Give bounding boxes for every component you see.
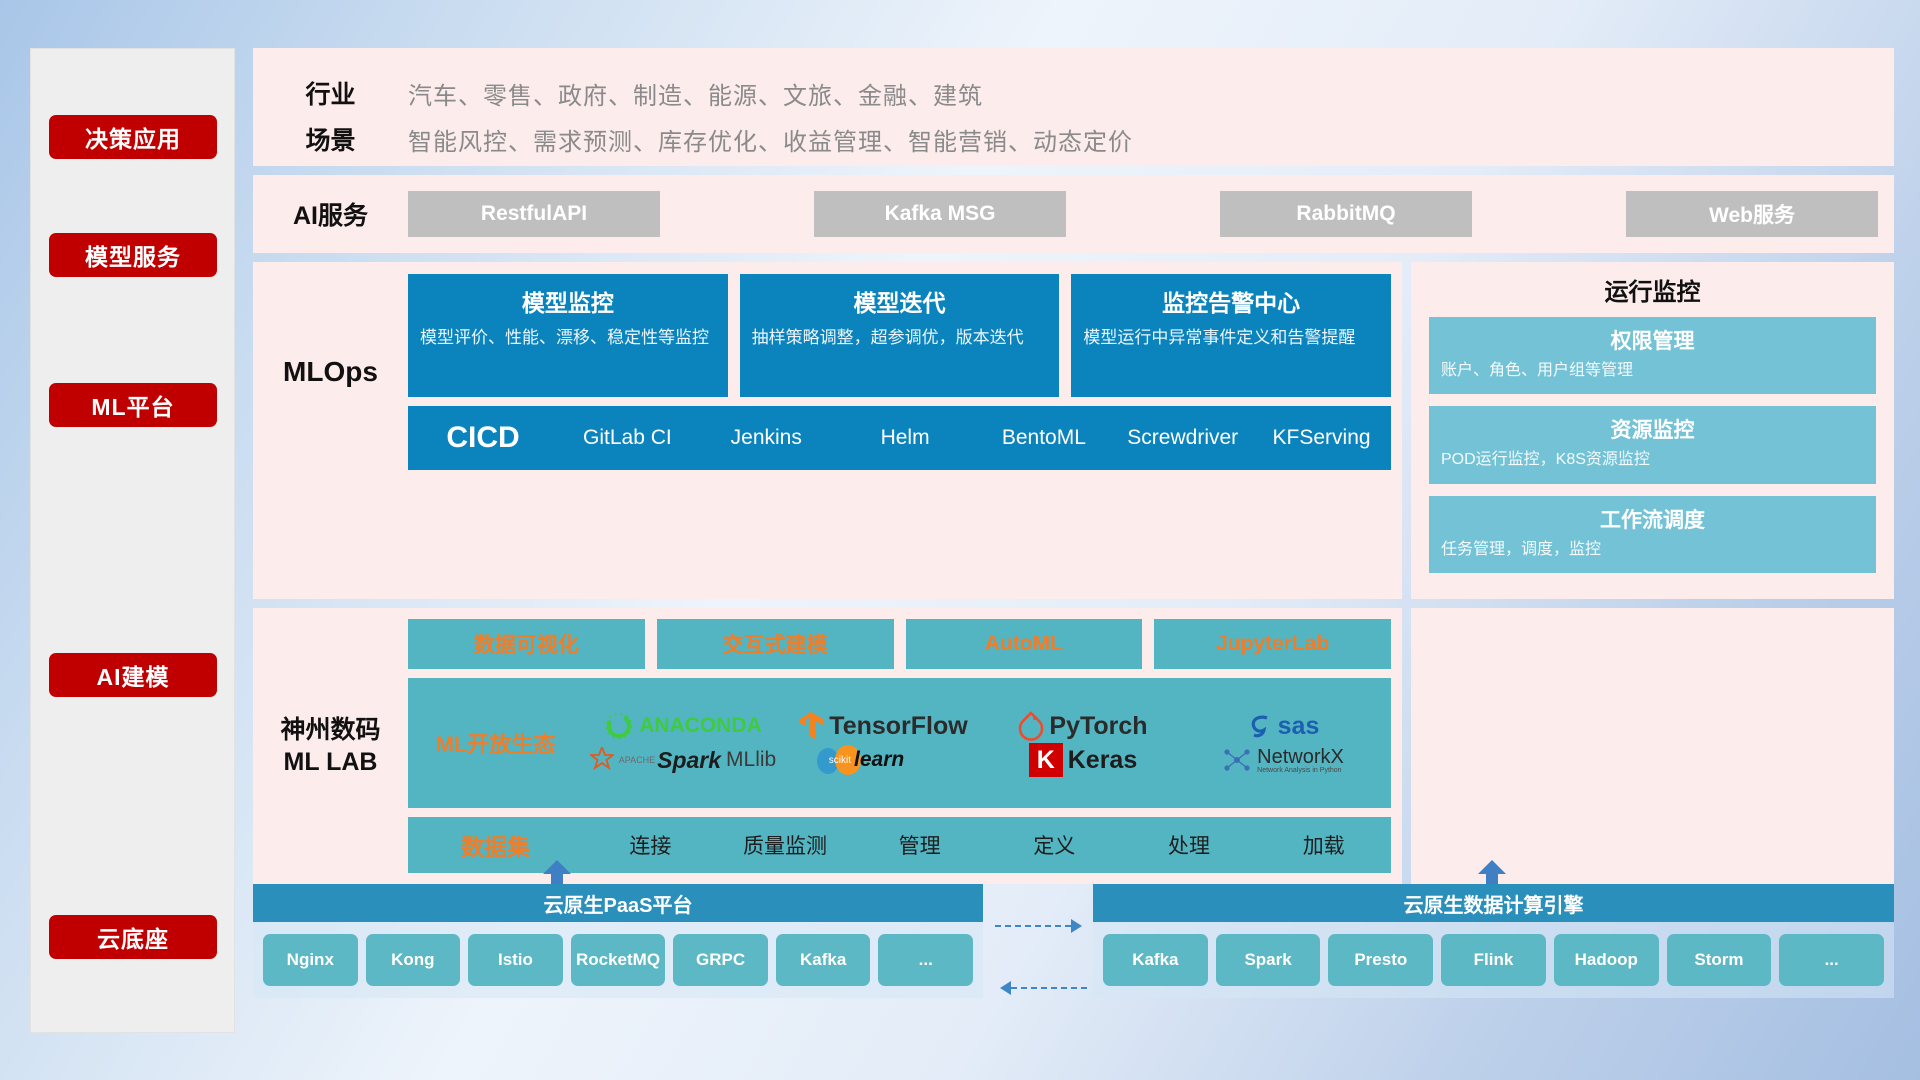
scikit-text: scikit bbox=[829, 755, 851, 766]
spark-wordmark: Spark bbox=[657, 747, 721, 774]
connector-arrow-left bbox=[1011, 987, 1087, 989]
paas-chip-more[interactable]: ... bbox=[878, 934, 973, 986]
ai-service-items: RestfulAPI Kafka MSG RabbitMQ Web服务 bbox=[408, 191, 1894, 237]
industry-row: 行业 汽车、零售、政府、制造、能源、文旅、金融、建筑 bbox=[253, 70, 1894, 116]
run-monitor-panel-lower bbox=[1411, 608, 1894, 884]
mlops-panel: MLOps 模型监控 模型评价、性能、漂移、稳定性等监控 模型迭代 抽样策略调整… bbox=[253, 262, 1402, 599]
cicd-item-screwdriver[interactable]: Screwdriver bbox=[1113, 426, 1252, 449]
dataset-items: 连接 质量监测 管理 定义 处理 加载 bbox=[583, 830, 1391, 860]
paas-chip-rocketmq[interactable]: RocketMQ bbox=[571, 934, 666, 986]
scenario-key: 场景 bbox=[253, 121, 408, 157]
paas-chip-istio[interactable]: Istio bbox=[468, 934, 563, 986]
networkx-mark-icon bbox=[1222, 746, 1252, 774]
spark-apache-text: APACHE bbox=[619, 755, 655, 765]
modeling-tools-row: 数据可视化 交互式建模 AutoML JupyterLab bbox=[408, 619, 1391, 669]
engine-chips: Kafka Spark Presto Flink Hadoop Storm ..… bbox=[1093, 922, 1894, 998]
ml-lab-panel: 神州数码 ML LAB 数据可视化 交互式建模 AutoML JupyterLa… bbox=[253, 608, 1402, 884]
card-title: 资源监控 bbox=[1441, 414, 1864, 444]
card-title: 监控告警中心 bbox=[1083, 284, 1379, 318]
learn-wordmark: learn bbox=[854, 748, 904, 772]
networkx-subtitle: Network Analysis in Python bbox=[1257, 767, 1344, 774]
ml-lab-label: 神州数码 ML LAB bbox=[253, 619, 408, 873]
tool-chip-interactive-modeling[interactable]: 交互式建模 bbox=[657, 619, 894, 669]
engine-chip-presto[interactable]: Presto bbox=[1328, 934, 1433, 986]
monitor-card-permission[interactable]: 权限管理 账户、角色、用户组等管理 bbox=[1429, 317, 1876, 394]
cicd-item-helm[interactable]: Helm bbox=[836, 426, 975, 449]
layer-chip-ml-platform[interactable]: ML平台 bbox=[49, 383, 217, 427]
pytorch-wordmark: PyTorch bbox=[1049, 712, 1147, 741]
paas-chip-grpc[interactable]: GRPC bbox=[673, 934, 768, 986]
cicd-item-gitlab-ci[interactable]: GitLab CI bbox=[558, 426, 697, 449]
industry-value: 汽车、零售、政府、制造、能源、文旅、金融、建筑 bbox=[408, 76, 983, 111]
spark-mllib-logo: APACHE Spark MLlib bbox=[590, 747, 776, 774]
dataset-item-define[interactable]: 定义 bbox=[987, 830, 1122, 860]
scikit-learn-logo: scikit learn bbox=[812, 743, 954, 777]
tool-chip-automl[interactable]: AutoML bbox=[906, 619, 1143, 669]
mlops-label: MLOps bbox=[253, 274, 408, 470]
anaconda-mark-icon bbox=[604, 711, 634, 741]
engine-chip-spark[interactable]: Spark bbox=[1216, 934, 1321, 986]
run-monitor-title: 运行监控 bbox=[1429, 272, 1876, 307]
card-title: 工作流调度 bbox=[1441, 504, 1864, 534]
sas-logo: sas bbox=[1247, 712, 1320, 741]
engine-header: 云原生数据计算引擎 bbox=[1093, 884, 1894, 922]
paas-platform-panel: 云原生PaaS平台 Nginx Kong Istio RocketMQ GRPC… bbox=[253, 884, 983, 998]
service-chip-kafka-msg[interactable]: Kafka MSG bbox=[814, 191, 1066, 237]
tensorflow-logo: TensorFlow bbox=[798, 711, 967, 741]
anaconda-logo: ANACONDA bbox=[604, 711, 762, 741]
tool-chip-jupyterlab[interactable]: JupyterLab bbox=[1154, 619, 1391, 669]
dataset-item-quality-monitor[interactable]: 质量监测 bbox=[718, 830, 853, 860]
card-desc: POD运行监控，K8S资源监控 bbox=[1441, 449, 1864, 471]
ml-ecosystem-label: ML开放生态 bbox=[408, 727, 583, 759]
paas-chips: Nginx Kong Istio RocketMQ GRPC Kafka ... bbox=[253, 922, 983, 998]
engine-chip-hadoop[interactable]: Hadoop bbox=[1554, 934, 1659, 986]
cicd-item-kfserving[interactable]: KFServing bbox=[1252, 426, 1391, 449]
anaconda-wordmark: ANACONDA bbox=[639, 714, 762, 738]
data-compute-engine-panel: 云原生数据计算引擎 Kafka Spark Presto Flink Hadoo… bbox=[1093, 884, 1894, 998]
layer-chip-ai-modeling[interactable]: AI建模 bbox=[49, 653, 217, 697]
cloud-base-section: 云原生PaaS平台 Nginx Kong Istio RocketMQ GRPC… bbox=[253, 862, 1894, 1034]
engine-chip-more[interactable]: ... bbox=[1779, 934, 1884, 986]
engine-chip-flink[interactable]: Flink bbox=[1441, 934, 1546, 986]
card-desc: 账户、角色、用户组等管理 bbox=[1441, 360, 1864, 382]
architecture-main-column: 行业 汽车、零售、政府、制造、能源、文旅、金融、建筑 场景 智能风控、需求预测、… bbox=[253, 48, 1894, 884]
paas-chip-nginx[interactable]: Nginx bbox=[263, 934, 358, 986]
mlops-card-model-iteration[interactable]: 模型迭代 抽样策略调整，超参调优，版本迭代 bbox=[740, 274, 1060, 397]
dataset-item-process[interactable]: 处理 bbox=[1122, 830, 1257, 860]
networkx-wordmark: NetworkX bbox=[1257, 747, 1344, 767]
layer-rail: 决策应用 模型服务 ML平台 AI建模 云底座 bbox=[30, 48, 235, 1033]
connector-arrowhead-left bbox=[1000, 981, 1011, 995]
engine-chip-kafka[interactable]: Kafka bbox=[1103, 934, 1208, 986]
tensorflow-mark-icon bbox=[798, 711, 824, 741]
sas-mark-icon bbox=[1247, 712, 1273, 740]
sas-wordmark: sas bbox=[1278, 712, 1320, 741]
mlops-card-model-monitoring[interactable]: 模型监控 模型评价、性能、漂移、稳定性等监控 bbox=[408, 274, 728, 397]
keras-wordmark: Keras bbox=[1068, 746, 1138, 775]
card-desc: 模型运行中异常事件定义和告警提醒 bbox=[1083, 326, 1379, 351]
layer-chip-decision-app[interactable]: 决策应用 bbox=[49, 115, 217, 159]
industry-scenario-band: 行业 汽车、零售、政府、制造、能源、文旅、金融、建筑 场景 智能风控、需求预测、… bbox=[253, 48, 1894, 166]
paas-header: 云原生PaaS平台 bbox=[253, 884, 983, 922]
networkx-logo: NetworkX Network Analysis in Python bbox=[1222, 746, 1344, 774]
run-monitor-panel: 运行监控 权限管理 账户、角色、用户组等管理 资源监控 POD运行监控，K8S资… bbox=[1411, 262, 1894, 599]
card-title: 模型迭代 bbox=[752, 284, 1048, 318]
card-title: 权限管理 bbox=[1441, 325, 1864, 355]
ml-platform-band: MLOps 模型监控 模型评价、性能、漂移、稳定性等监控 模型迭代 抽样策略调整… bbox=[253, 262, 1894, 599]
card-title: 模型监控 bbox=[420, 284, 716, 318]
cicd-title: CICD bbox=[408, 421, 558, 455]
pytorch-logo: PyTorch bbox=[1018, 711, 1147, 741]
tensorflow-wordmark: TensorFlow bbox=[829, 712, 967, 741]
monitor-card-workflow[interactable]: 工作流调度 任务管理，调度，监控 bbox=[1429, 496, 1876, 573]
cicd-strip: CICD GitLab CI Jenkins Helm BentoML Scre… bbox=[408, 406, 1391, 470]
scenario-row: 场景 智能风控、需求预测、库存优化、收益管理、智能营销、动态定价 bbox=[253, 116, 1894, 162]
layer-chip-cloud-base[interactable]: 云底座 bbox=[49, 915, 217, 959]
mllib-wordmark: MLlib bbox=[726, 748, 776, 772]
mlops-card-alert-center[interactable]: 监控告警中心 模型运行中异常事件定义和告警提醒 bbox=[1071, 274, 1391, 397]
dataset-item-manage[interactable]: 管理 bbox=[852, 830, 987, 860]
service-chip-restfulapi[interactable]: RestfulAPI bbox=[408, 191, 660, 237]
ml-ecosystem-logos: ANACONDA TensorFlow bbox=[583, 709, 1391, 777]
ai-service-band: AI服务 RestfulAPI Kafka MSG RabbitMQ Web服务 bbox=[253, 175, 1894, 253]
engine-chip-storm[interactable]: Storm bbox=[1667, 934, 1772, 986]
industry-key: 行业 bbox=[253, 75, 408, 111]
keras-mark-icon: K bbox=[1029, 743, 1063, 777]
ai-service-label: AI服务 bbox=[253, 196, 408, 232]
ml-lab-label-line2: ML LAB bbox=[284, 748, 378, 776]
cicd-item-jenkins[interactable]: Jenkins bbox=[697, 426, 836, 449]
paas-chip-kong[interactable]: Kong bbox=[366, 934, 461, 986]
scenario-value: 智能风控、需求预测、库存优化、收益管理、智能营销、动态定价 bbox=[408, 122, 1133, 157]
pytorch-mark-icon bbox=[1018, 711, 1044, 741]
dataset-item-load[interactable]: 加载 bbox=[1256, 830, 1391, 860]
spark-mark-icon bbox=[590, 747, 614, 773]
keras-logo: K Keras bbox=[1029, 743, 1138, 777]
ml-lab-label-line1: 神州数码 bbox=[280, 716, 380, 744]
service-chip-web[interactable]: Web服务 bbox=[1626, 191, 1878, 237]
card-desc: 任务管理，调度，监控 bbox=[1441, 539, 1864, 561]
connector-arrowhead-right bbox=[1071, 919, 1082, 933]
connector-arrow-right bbox=[995, 925, 1071, 927]
service-chip-rabbitmq[interactable]: RabbitMQ bbox=[1220, 191, 1472, 237]
card-desc: 模型评价、性能、漂移、稳定性等监控 bbox=[420, 326, 716, 351]
card-desc: 抽样策略调整，超参调优，版本迭代 bbox=[752, 326, 1048, 351]
monitor-card-resource[interactable]: 资源监控 POD运行监控，K8S资源监控 bbox=[1429, 406, 1876, 483]
tool-chip-data-visualization[interactable]: 数据可视化 bbox=[408, 619, 645, 669]
cicd-item-bentoml[interactable]: BentoML bbox=[974, 426, 1113, 449]
mlops-cards: 模型监控 模型评价、性能、漂移、稳定性等监控 模型迭代 抽样策略调整，超参调优，… bbox=[408, 274, 1391, 397]
ai-modeling-band: 神州数码 ML LAB 数据可视化 交互式建模 AutoML JupyterLa… bbox=[253, 608, 1894, 884]
dataset-item-connect[interactable]: 连接 bbox=[583, 830, 718, 860]
ml-ecosystem-row: ML开放生态 ANACONDA bbox=[408, 678, 1391, 808]
layer-chip-model-service[interactable]: 模型服务 bbox=[49, 233, 217, 277]
dataset-label: 数据集 bbox=[408, 828, 583, 862]
paas-chip-kafka[interactable]: Kafka bbox=[776, 934, 871, 986]
cicd-items: GitLab CI Jenkins Helm BentoML Screwdriv… bbox=[558, 426, 1391, 449]
